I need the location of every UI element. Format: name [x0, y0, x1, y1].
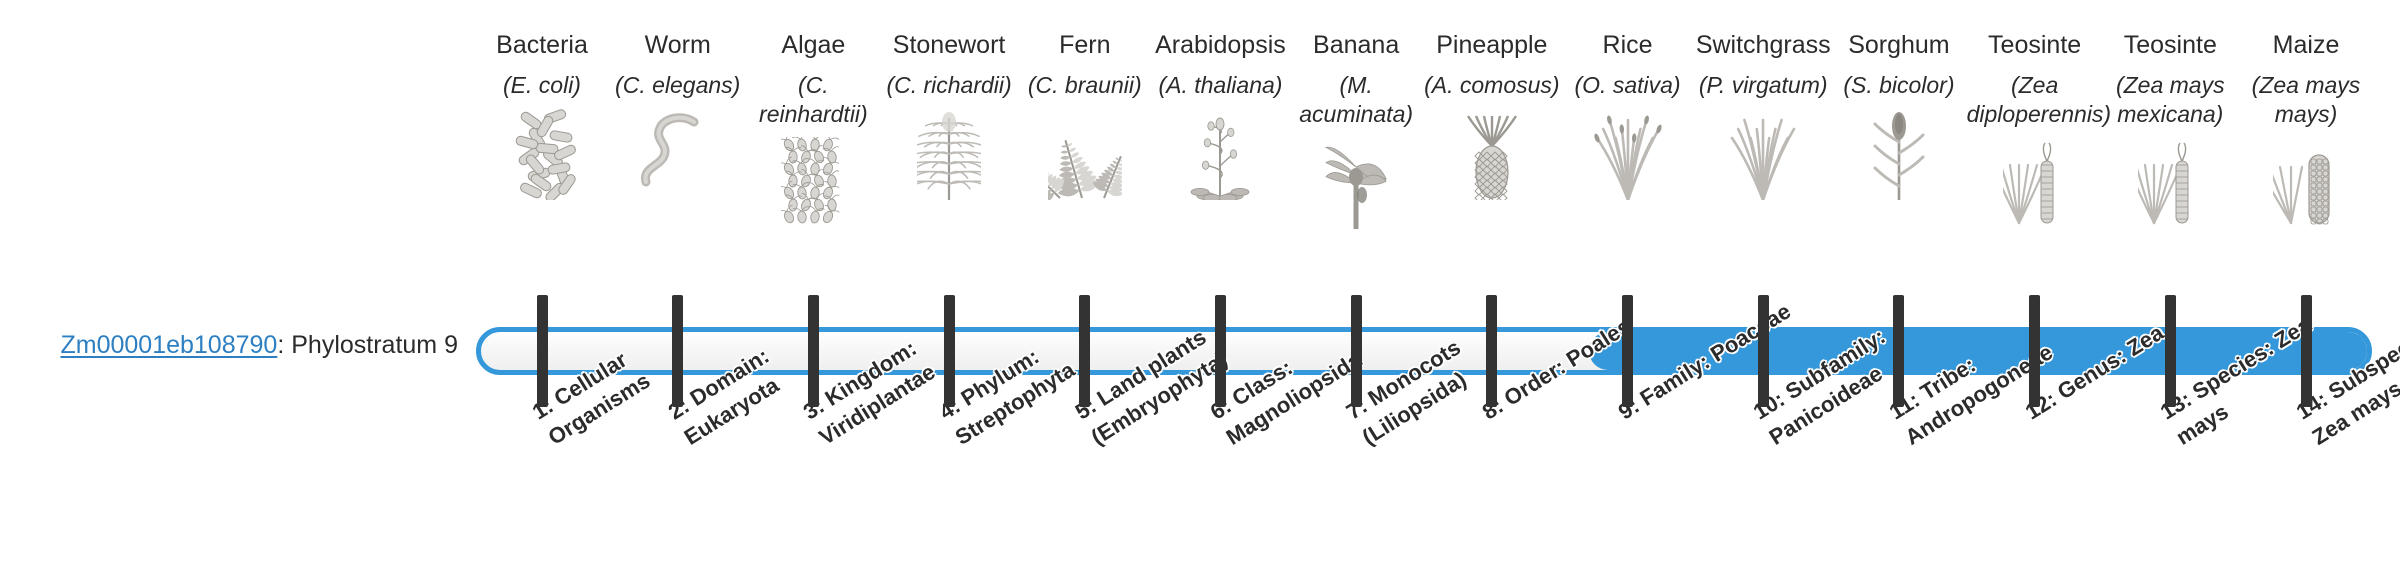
species-column-6: Arabidopsis(A. thaliana) [1150, 30, 1290, 200]
tick-mark-2 [672, 295, 683, 407]
species-latin-name: (Zea mays mexicana) [2100, 71, 2240, 129]
tick-mark-14 [2301, 295, 2312, 407]
tick-mark-4 [944, 295, 955, 407]
pineapple-illustration [1422, 108, 1562, 200]
sorghum-illustration [1829, 108, 1969, 200]
gene-id-link[interactable]: Zm00001eb108790 [60, 331, 277, 359]
tick-mark-1 [537, 295, 548, 407]
species-column-9: Rice(O. sativa) [1558, 30, 1698, 200]
species-latin-name: (C. reinhardtii) [743, 71, 883, 129]
species-common-name: Pineapple [1422, 30, 1562, 61]
phylostratum-fill [1589, 332, 2372, 370]
phylostratum-figure: Zm00001eb108790: Phylostratum 9 Bacteria… [0, 0, 2400, 580]
species-latin-name: (C. braunii) [1015, 71, 1155, 100]
tick-mark-9 [1622, 295, 1633, 407]
species-common-name: Switchgrass [1693, 30, 1833, 61]
gene-phylostratum-label: Zm00001eb108790: Phylostratum 9 [38, 330, 458, 360]
species-column-3: Algae(C. reinhardtii) [743, 30, 883, 229]
rice-illustration [1558, 108, 1698, 200]
species-latin-name: (O. sativa) [1558, 71, 1698, 100]
species-latin-name: (A. thaliana) [1150, 71, 1290, 100]
tick-mark-3 [808, 295, 819, 407]
species-common-name: Worm [608, 30, 748, 61]
species-column-4: Stonewort(C. richardii) [879, 30, 1019, 200]
species-column-12: Teosinte(Zea diploperennis) [1965, 30, 2105, 229]
nematode-illustration [608, 108, 748, 200]
species-common-name: Maize [2236, 30, 2376, 61]
tick-mark-13 [2165, 295, 2176, 407]
phylostratum-track[interactable] [476, 327, 2372, 375]
species-latin-name: (C. richardii) [879, 71, 1019, 100]
switchgrass-illustration [1693, 108, 1833, 200]
arabidopsis-illustration [1150, 108, 1290, 200]
species-common-name: Fern [1015, 30, 1155, 61]
species-column-5: Fern(C. braunii) [1015, 30, 1155, 200]
species-column-7: Banana(M. acuminata) [1286, 30, 1426, 229]
species-column-14: Maize(Zea mays mays) [2236, 30, 2376, 229]
species-column-8: Pineapple(A. comosus) [1422, 30, 1562, 200]
species-column-10: Switchgrass(P. virgatum) [1693, 30, 1833, 200]
species-latin-name: (Zea diploperennis) [1965, 71, 2105, 129]
species-common-name: Teosinte [2100, 30, 2240, 61]
maize-ear-illustration [2236, 137, 2376, 229]
species-latin-name: (M. acuminata) [1286, 71, 1426, 129]
species-latin-name: (C. elegans) [608, 71, 748, 100]
species-common-name: Teosinte [1965, 30, 2105, 61]
tick-mark-7 [1351, 295, 1362, 407]
tick-mark-5 [1079, 295, 1090, 407]
gene-label-separator: : [277, 331, 291, 359]
teosinte-ears-illustration [1965, 137, 2105, 229]
species-column-11: Sorghum(S. bicolor) [1829, 30, 1969, 200]
species-latin-name: (A. comosus) [1422, 71, 1562, 100]
stonewort-illustration [879, 108, 1019, 200]
species-common-name: Algae [743, 30, 883, 61]
species-common-name: Banana [1286, 30, 1426, 61]
bacteria-illustration [472, 108, 612, 200]
species-common-name: Arabidopsis [1150, 30, 1290, 61]
tick-mark-12 [2029, 295, 2040, 407]
species-common-name: Stonewort [879, 30, 1019, 61]
algae-illustration [743, 137, 883, 229]
tick-mark-6 [1215, 295, 1226, 407]
tick-mark-11 [1893, 295, 1904, 407]
banana-illustration [1286, 137, 1426, 229]
teosinte-mexicana-illustration [2100, 137, 2240, 229]
species-column-1: Bacteria(E. coli) [472, 30, 612, 200]
species-latin-name: (Zea mays mays) [2236, 71, 2376, 129]
phylostratum-track-area [476, 327, 2372, 375]
species-common-name: Rice [1558, 30, 1698, 61]
species-latin-name: (P. virgatum) [1693, 71, 1833, 100]
species-latin-name: (E. coli) [472, 71, 612, 100]
tick-mark-8 [1486, 295, 1497, 407]
fern-illustration [1015, 108, 1155, 200]
species-common-name: Sorghum [1829, 30, 1969, 61]
phylostratum-value-text: Phylostratum 9 [291, 331, 458, 359]
species-latin-name: (S. bicolor) [1829, 71, 1969, 100]
tick-mark-10 [1758, 295, 1769, 407]
species-column-13: Teosinte(Zea mays mexicana) [2100, 30, 2240, 229]
species-column-2: Worm(C. elegans) [608, 30, 748, 200]
species-common-name: Bacteria [472, 30, 612, 61]
